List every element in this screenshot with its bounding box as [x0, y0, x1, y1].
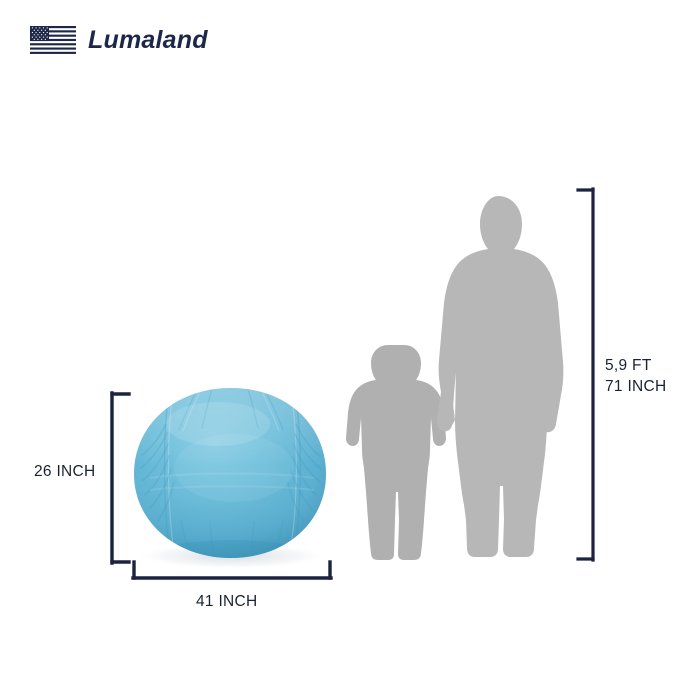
child-silhouette — [346, 345, 446, 560]
person-height-feet-label: 5,9 FT — [605, 357, 652, 374]
infographic-artwork — [0, 0, 700, 700]
person-height-dimension-label: 5,9 FT 71 INCH — [605, 356, 667, 398]
person-height-inch-label: 71 INCH — [605, 377, 667, 398]
adult-silhouette — [437, 196, 563, 557]
height-dimension-bracket — [112, 393, 129, 563]
product-dimension-infographic: Lumaland — [0, 0, 700, 700]
person-height-dimension-bracket — [578, 189, 593, 560]
height-dimension-label: 26 INCH — [34, 462, 96, 483]
width-dimension-label: 41 INCH — [196, 592, 258, 613]
